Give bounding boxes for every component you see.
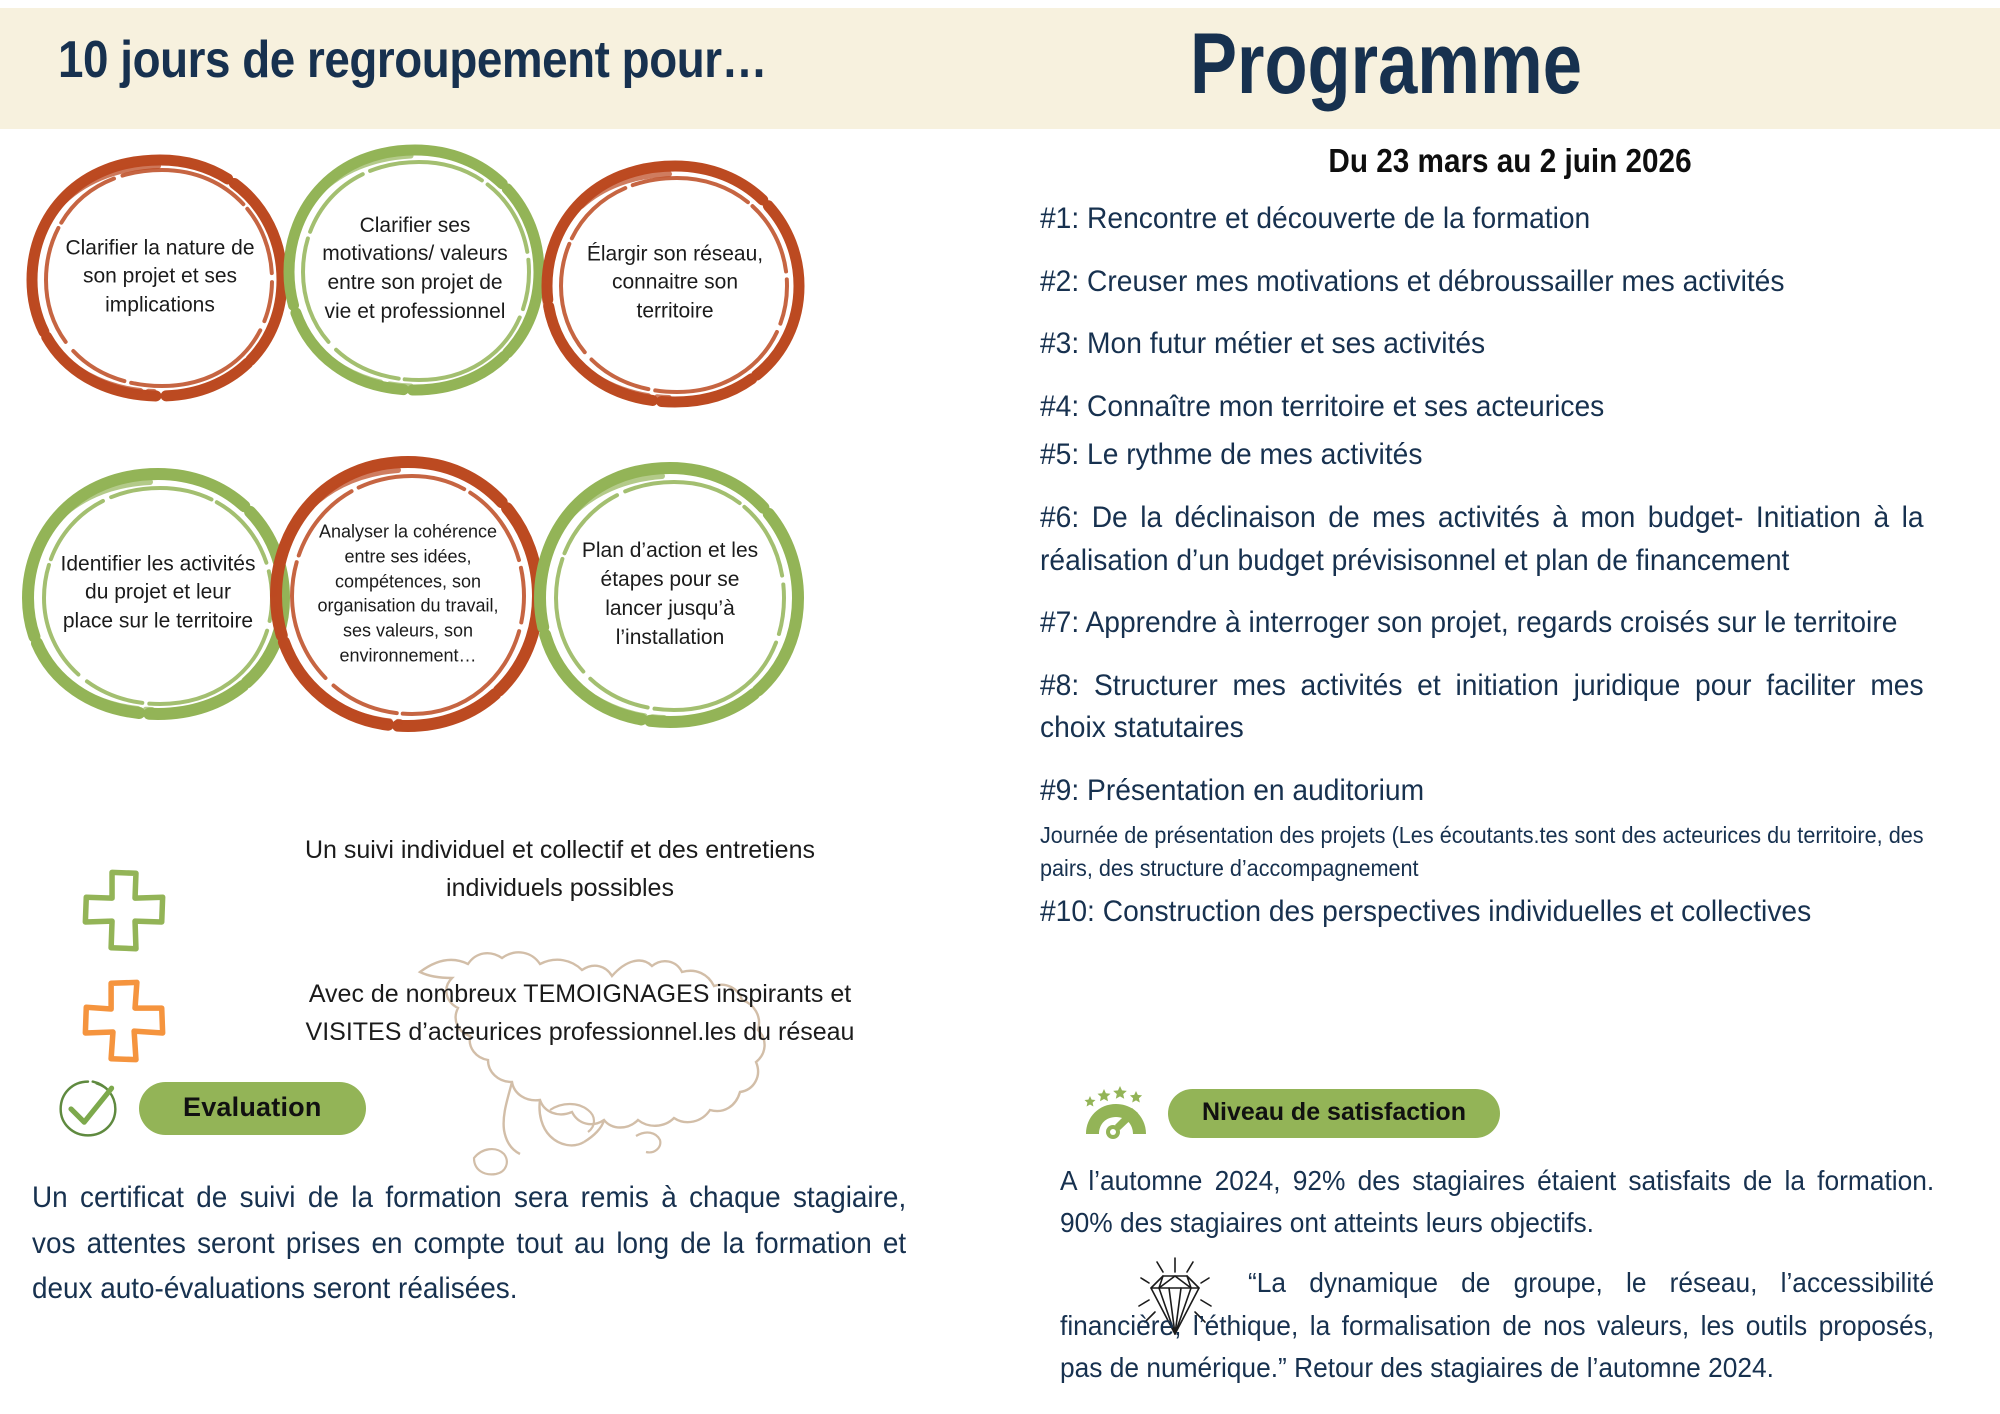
programme-item-1: #1: Rencontre et découverte de la format…: [1040, 198, 1924, 241]
objective-text: Plan d’action et les étapes pour se lanc…: [570, 537, 770, 653]
suivi-text: Un suivi individuel et collectif et des …: [270, 832, 850, 907]
brittany-map-outline-icon: [390, 930, 810, 1180]
programme-item-2: #2: Creuser mes motivations et débroussa…: [1040, 261, 1924, 304]
satisfaction-pill[interactable]: Niveau de satisfaction: [1168, 1089, 1500, 1138]
programme-item-9: #9: Présentation en auditorium: [1040, 770, 1924, 813]
page-title-left: 10 jours de regroupement pour…: [58, 30, 938, 90]
quote-body: “La dynamique de groupe, le réseau, l’ac…: [1060, 1267, 1934, 1383]
check-circle-icon: [55, 1075, 121, 1141]
objective-text: Élargir son réseau, connaitre son territ…: [575, 240, 775, 327]
programme-item-6: #6: De la déclinaison de mes activités à…: [1040, 497, 1924, 582]
objectives-row-1: Clarifier la nature de son projet et ses…: [0, 140, 1010, 420]
programme-item-5: #5: Le rythme de mes activités: [1040, 434, 1924, 477]
objective-text: Clarifier ses motivations/ valeurs entre…: [315, 212, 515, 328]
objective-text: Analyser la cohérence entre ses idées, c…: [308, 520, 508, 669]
programme-item-4: #4: Connaître mon territoire et ses acte…: [1040, 386, 1924, 429]
programme-item-9-note: Journée de présentation des projets (Les…: [1040, 819, 1924, 886]
page-title-right: Programme: [1190, 6, 1764, 122]
programme-section: Du 23 mars au 2 juin 2026 #1: Rencontre …: [1040, 142, 1980, 954]
objectives-row-2: Identifier les activités du projet et le…: [0, 456, 1010, 736]
evaluation-row: Evaluation: [55, 1075, 366, 1141]
plus-icon-orange: [78, 975, 170, 1067]
objective-bubble-5: Analyser la cohérence entre ses idées, c…: [258, 444, 558, 744]
programme-date-range: Du 23 mars au 2 juin 2026: [1087, 142, 1933, 180]
temoignages-text: Avec de nombreux TEMOIGNAGES inspirants …: [300, 975, 860, 1051]
programme-item-10: #10: Construction des perspectives indiv…: [1040, 891, 1924, 934]
satisfaction-quote-text: “La dynamique de groupe, le réseau, l’ac…: [1060, 1262, 1934, 1390]
objective-bubble-2: Clarifier ses motivations/ valeurs entre…: [265, 132, 565, 407]
evaluation-pill[interactable]: Evaluation: [139, 1082, 366, 1135]
programme-item-7: #7: Apprendre à interroger son projet, r…: [1040, 602, 1924, 645]
satisfaction-gauge-icon: [1080, 1082, 1152, 1144]
objective-text: Clarifier la nature de son projet et ses…: [60, 234, 260, 321]
programme-item-8: #8: Structurer mes activités et initiati…: [1040, 665, 1924, 750]
poster-page: 10 jours de regroupement pour… Programme: [0, 0, 2000, 1414]
objectives-section: Clarifier la nature de son projet et ses…: [0, 140, 1010, 736]
programme-item-3: #3: Mon futur métier et ses activités: [1040, 323, 1924, 366]
satisfaction-stats-text: A l’automne 2024, 92% des stagiaires éta…: [1060, 1160, 1934, 1244]
evaluation-body-text: Un certificat de suivi de la formation s…: [32, 1175, 906, 1312]
satisfaction-row: Niveau de satisfaction: [1080, 1082, 1500, 1144]
plus-icon-green: [78, 865, 170, 957]
objective-text: Identifier les activités du projet et le…: [58, 550, 258, 637]
objective-bubble-6: Plan d’action et les étapes pour se lanc…: [520, 450, 820, 740]
objective-bubble-3: Élargir son réseau, connaitre son territ…: [525, 146, 825, 421]
